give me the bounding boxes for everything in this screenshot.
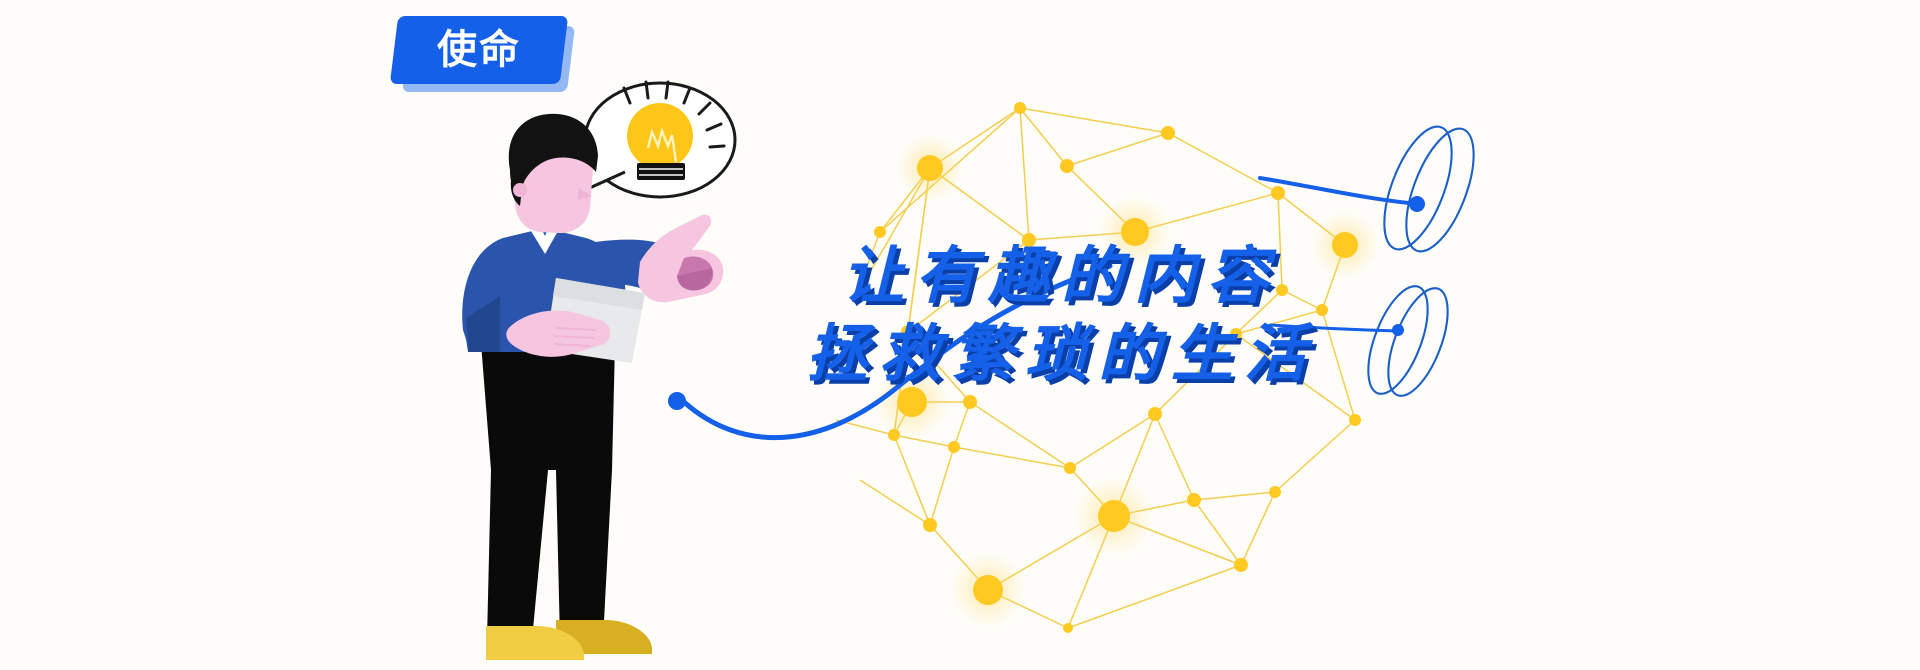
badge-label: 使命	[437, 30, 521, 70]
mission-badge[interactable]: 使命	[390, 8, 580, 103]
badge-group: 使命	[0, 0, 1920, 670]
badge-face: 使命	[390, 16, 568, 84]
mission-banner: 让有趣的内容 拯救繁琐的生活 使命	[0, 0, 1920, 670]
